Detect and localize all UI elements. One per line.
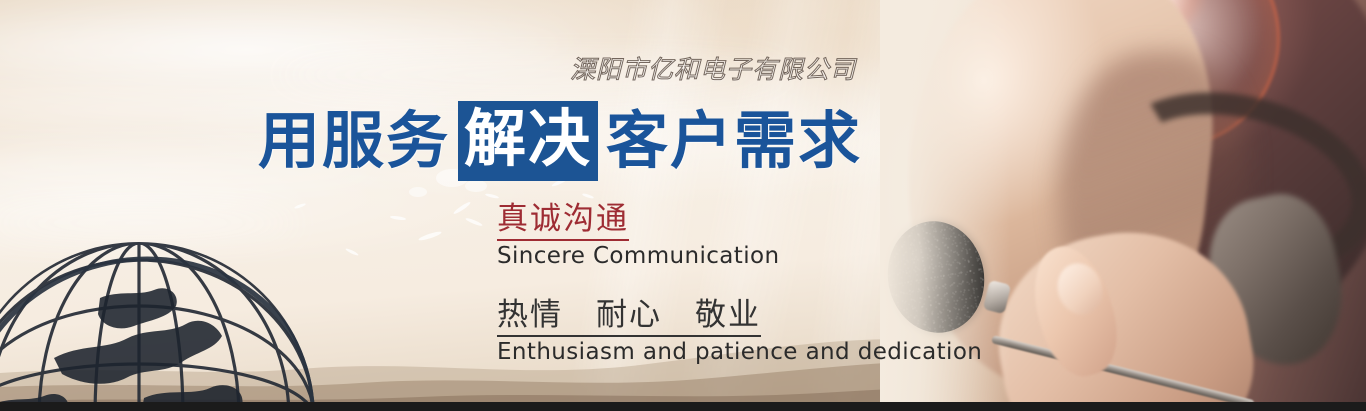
- slogan-block: 真诚沟通 Sincere Communication 热情 耐心 敬业 Enth…: [497, 198, 917, 368]
- headline-before: 用服务: [256, 105, 452, 177]
- hero-banner: 溧阳市亿和电子有限公司 用服务解决客户需求 真诚沟通 Sincere Commu…: [0, 0, 1366, 411]
- bottom-bar: [0, 402, 1366, 411]
- headline-after: 客户需求: [604, 105, 864, 177]
- headline: 用服务解决客户需求: [256, 100, 864, 182]
- globe-wireframe-icon: [0, 238, 374, 411]
- slogan-cn-1-text: 真诚沟通: [497, 201, 629, 241]
- company-name: 溧阳市亿和电子有限公司: [570, 54, 856, 86]
- slogan-row-2: 热情 耐心 敬业 Enthusiasm and patience and ded…: [497, 294, 917, 368]
- slogan-row-1: 真诚沟通 Sincere Communication: [497, 198, 917, 272]
- headline-highlight: 解决: [458, 101, 598, 181]
- slogan-cn-1: 真诚沟通: [497, 198, 917, 240]
- slogan-en-1: Sincere Communication: [497, 240, 917, 272]
- slogan-cn-2: 热情 耐心 敬业: [497, 294, 917, 336]
- slogan-cn-2-text: 热情 耐心 敬业: [497, 297, 761, 337]
- slogan-en-2: Enthusiasm and patience and dedication: [497, 336, 917, 368]
